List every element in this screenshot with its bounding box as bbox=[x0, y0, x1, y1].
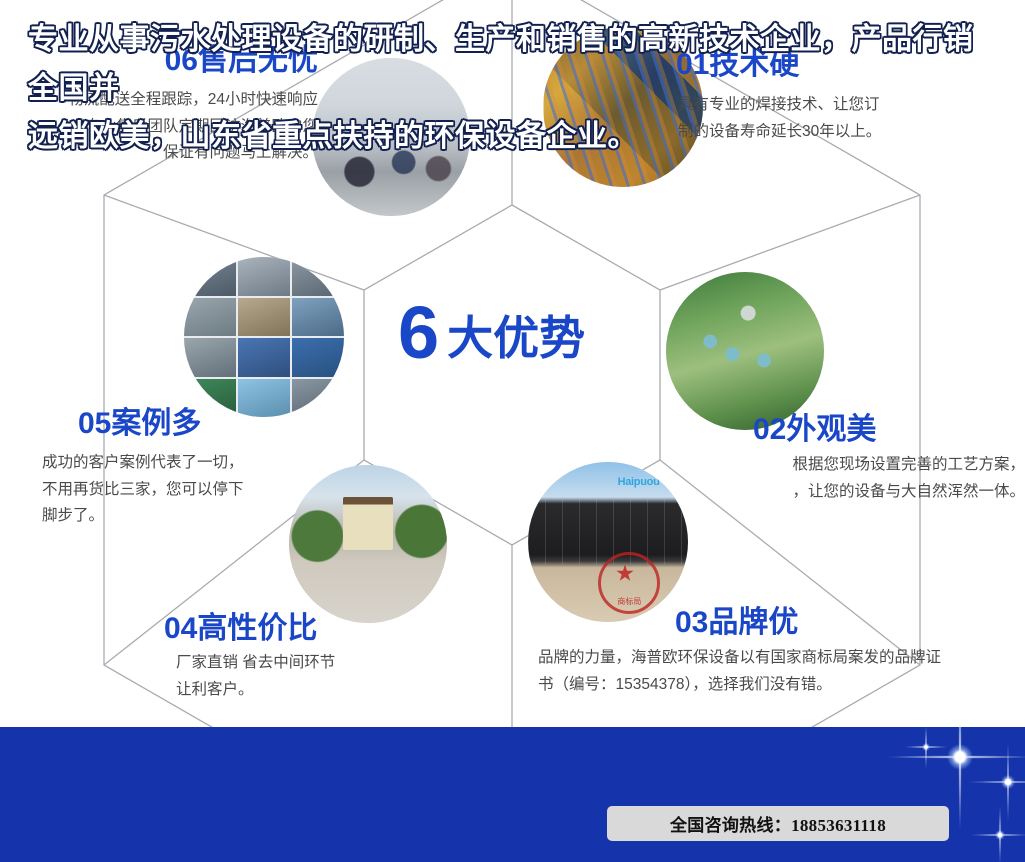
infographic-root: 06售后无忧 物流配送全程跟踪，24小时快速响应 ，专业售后团队定期回访海普欧向… bbox=[0, 0, 1025, 862]
hotline-box: 全国咨询热线：18853631118 bbox=[607, 806, 949, 841]
advantage-02-heading: 02外观美 bbox=[753, 415, 876, 445]
advantage-05-image bbox=[184, 257, 344, 417]
case-collage-photo bbox=[184, 257, 344, 417]
bottom-banner bbox=[0, 727, 1025, 862]
center-label: 6大优势 bbox=[398, 296, 585, 370]
center-number: 6 bbox=[398, 291, 439, 374]
center-text: 大优势 bbox=[447, 312, 585, 364]
advantage-03-heading: 03品牌优 bbox=[675, 608, 798, 638]
hotline-text: 全国咨询热线：18853631118 bbox=[670, 811, 886, 836]
aerial-treatment-plant-photo bbox=[666, 272, 824, 430]
banner-text: 专业从事污水处理设备的研制、生产和销售的高新技术企业，产品行销全国并 远销欧美，… bbox=[28, 16, 988, 162]
advantage-02-body: 根据您现场设置完善的工艺方案， ，让您的设备与大自然浑然一体。 bbox=[700, 452, 1025, 505]
advantage-05-body: 成功的客户案例代表了一切， 不用再货比三家，您可以停下 脚步了。 bbox=[42, 450, 332, 530]
advantage-04-body: 厂家直销 省去中间环节 让利客户。 bbox=[176, 650, 506, 703]
trademark-stamp-label: 商标局 bbox=[617, 596, 641, 607]
advantage-03-body: 品牌的力量，海普欧环保设备以有国家商标局案发的品牌证 书（编号：15354378… bbox=[538, 645, 1018, 698]
advantage-02-image bbox=[666, 272, 824, 430]
advantage-05-heading: 05案例多 bbox=[78, 409, 201, 439]
trademark-stamp: 商标局 bbox=[598, 552, 660, 614]
haipuou-watermark: Haipuou bbox=[618, 476, 660, 488]
advantage-04-heading: 04高性价比 bbox=[164, 614, 317, 644]
advantage-03-image: Haipuou 商标局 bbox=[528, 462, 688, 622]
